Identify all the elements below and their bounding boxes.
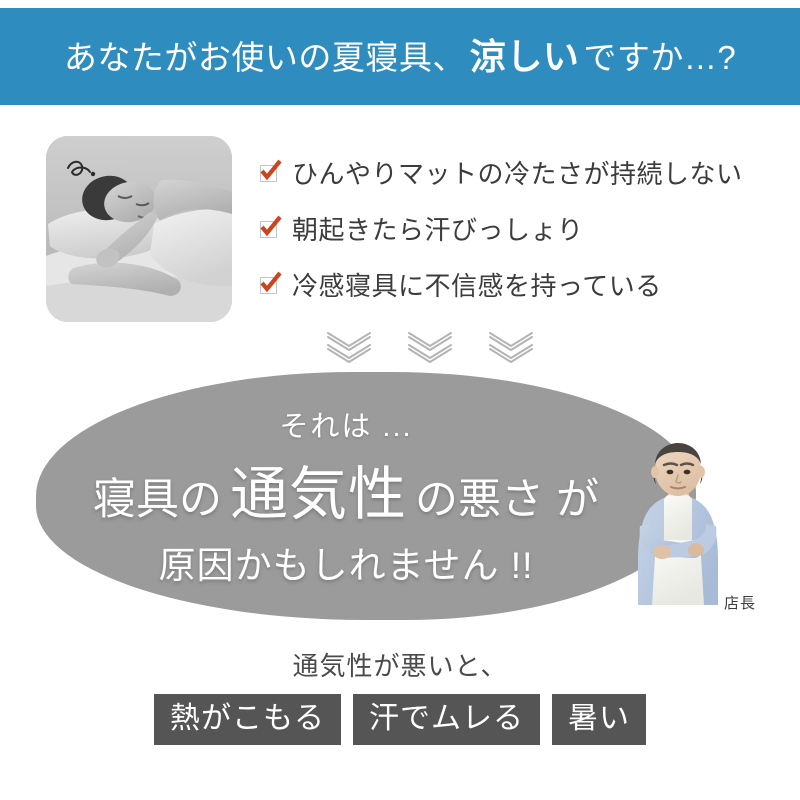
consequence-tag: 汗でムレる	[353, 694, 540, 745]
list-item: ひんやりマットの冷たさが持続しない	[258, 144, 728, 200]
list-item-label: 朝起きたら汗びっしょり	[292, 210, 584, 247]
blob-conclusion-text: 原因かもしれません !!	[159, 535, 534, 589]
bottom-caption: 通気性が悪いと、	[0, 646, 800, 683]
blob-main-text: 寝具の 通気性 の悪さ が	[93, 447, 599, 531]
sleeping-person-illustration	[46, 136, 232, 322]
chevron-double-down-icon	[322, 327, 376, 372]
chevron-double-down-icon	[484, 327, 538, 372]
header-title-suffix: ですか…?	[583, 41, 736, 74]
store-manager-photo	[618, 440, 738, 605]
blob-message-content: それは ... 寝具の 通気性 の悪さ が 原因かもしれません !!	[36, 372, 656, 620]
list-item: 朝起きたら汗びっしょり	[258, 200, 728, 256]
blob-intro-text: それは ...	[279, 403, 412, 445]
store-manager-illustration	[618, 440, 738, 605]
consequence-tag: 暑い	[552, 694, 646, 745]
list-item-label: 冷感寝具に不信感を持っている	[292, 266, 662, 303]
blob-main-suffix: の悪さ が	[415, 465, 599, 527]
checkmark-icon	[258, 159, 284, 185]
list-item-label: ひんやりマットの冷たさが持続しない	[292, 154, 743, 191]
header-banner: あなたがお使いの夏寝具、 涼しい ですか…?	[0, 8, 800, 105]
checkmark-icon	[258, 271, 284, 297]
cause-message-blob: それは ... 寝具の 通気性 の悪さ が 原因かもしれません !!	[36, 372, 716, 622]
blob-main-prefix: 寝具の	[93, 465, 222, 527]
header-title: あなたがお使いの夏寝具、 涼しい ですか…?	[64, 39, 736, 75]
chevron-arrow-group	[322, 328, 538, 370]
blob-main-emphasis: 通気性	[222, 447, 415, 531]
header-title-prefix: あなたがお使いの夏寝具、	[64, 41, 466, 74]
consequence-tag-row: 熱がこもる 汗でムレる 暑い	[0, 694, 800, 745]
manager-label: 店長	[724, 592, 756, 613]
header-title-emphasis: 涼しい	[466, 39, 584, 75]
chevron-double-down-icon	[403, 327, 457, 372]
checkmark-icon	[258, 215, 284, 241]
consequence-tag: 熱がこもる	[154, 694, 341, 745]
list-item: 冷感寝具に不信感を持っている	[258, 256, 728, 312]
problem-checklist: ひんやりマットの冷たさが持続しない 朝起きたら汗びっしょり 冷感寝具に不信感を持…	[258, 144, 728, 312]
sleeping-person-photo	[46, 136, 232, 322]
